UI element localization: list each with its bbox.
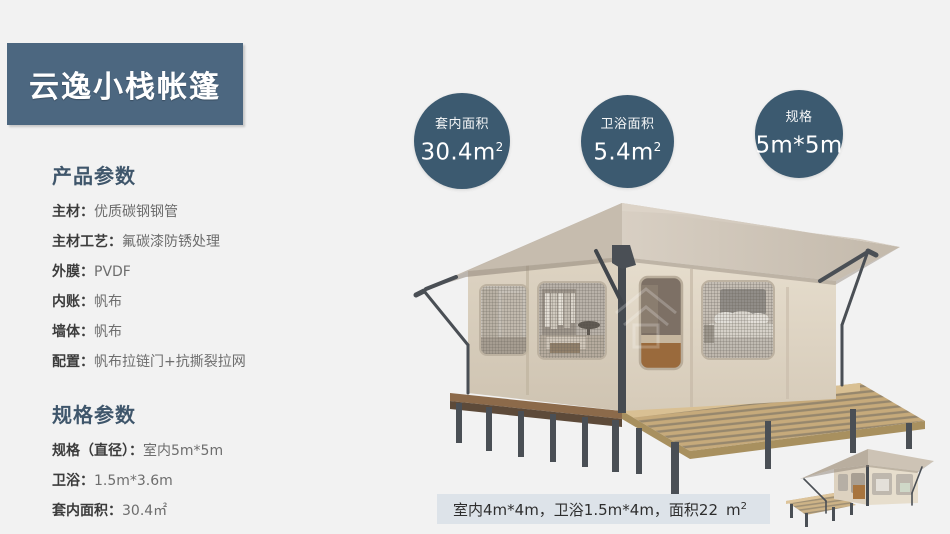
spec-label: 外膜： bbox=[52, 264, 94, 280]
spec-row: 规格（直径）：室内5m*5m bbox=[52, 436, 352, 466]
stat-badge-bathroom-area: 卫浴面积 5.4m2 bbox=[581, 95, 674, 188]
stat-badge-caption: 套内面积 bbox=[435, 116, 489, 133]
image-caption-bar: 室内4m*4m，卫浴1.5m*4m，面积22m2 bbox=[437, 494, 770, 524]
spec-row: 配置：帆布拉链门+抗撕裂拉网 bbox=[52, 347, 352, 377]
spec-value: 30.4㎡ bbox=[122, 503, 167, 519]
stat-value-number: 30.4 bbox=[420, 139, 472, 165]
spec-params-heading: 规格参数 bbox=[52, 403, 352, 427]
specifications-panel: 产品参数 主材：优质碳钢钢管 主材工艺：氟碳漆防锈处理 外膜：PVDF 内账：帆… bbox=[52, 164, 352, 526]
stat-badge-value: 30.4m2 bbox=[420, 134, 503, 167]
stat-badge-interior-area: 套内面积 30.4m2 bbox=[414, 93, 510, 189]
stat-badge-value: 5m*5m bbox=[755, 127, 842, 160]
spec-row: 外膜：PVDF bbox=[52, 257, 352, 287]
caption-sup: 2 bbox=[741, 501, 747, 512]
spec-value: 帆布 bbox=[94, 324, 122, 340]
stat-value-number: 5m*5m bbox=[755, 132, 842, 158]
spec-row: 墙体：帆布 bbox=[52, 317, 352, 347]
tent-thumbnail-image bbox=[772, 443, 944, 531]
spec-value: 氟碳漆防锈处理 bbox=[122, 234, 220, 250]
product-title-bar: 云逸小栈帐篷 bbox=[7, 43, 243, 125]
spec-label: 墙体： bbox=[52, 324, 94, 340]
spec-row: 主材工艺：氟碳漆防锈处理 bbox=[52, 227, 352, 257]
spec-value: 室内5m*5m bbox=[143, 443, 223, 459]
spec-label: 规格（直径）： bbox=[52, 443, 143, 459]
page-root: 云逸小栈帐篷 产品参数 主材：优质碳钢钢管 主材工艺：氟碳漆防锈处理 外膜：PV… bbox=[0, 0, 950, 534]
spec-label: 主材： bbox=[52, 204, 94, 220]
product-params-heading: 产品参数 bbox=[52, 164, 352, 188]
spec-value: 帆布拉链门+抗撕裂拉网 bbox=[94, 354, 246, 370]
stat-value-sup: 2 bbox=[496, 140, 504, 154]
stat-value-unit: m bbox=[631, 140, 654, 166]
spec-row: 主材：优质碳钢钢管 bbox=[52, 197, 352, 227]
spec-value: 帆布 bbox=[94, 294, 122, 310]
stat-badge-dimensions: 规格 5m*5m bbox=[755, 90, 843, 178]
caption-unit: m bbox=[718, 501, 741, 519]
spec-row: 卫浴：1.5m*3.6m bbox=[52, 466, 352, 496]
spec-label: 内账： bbox=[52, 294, 94, 310]
spec-value: PVDF bbox=[94, 264, 131, 280]
spec-label: 配置： bbox=[52, 354, 94, 370]
spec-row: 套内面积：30.4㎡ bbox=[52, 496, 352, 526]
stat-value-unit: m bbox=[473, 139, 496, 165]
spec-value: 优质碳钢钢管 bbox=[94, 204, 178, 220]
stat-badge-caption: 卫浴面积 bbox=[600, 116, 654, 133]
stat-badge-value: 5.4m2 bbox=[593, 134, 661, 167]
spec-label: 主材工艺： bbox=[52, 234, 122, 250]
page-title: 云逸小栈帐篷 bbox=[29, 62, 221, 106]
caption-main: 室内4m*4m，卫浴1.5m*4m，面积22 bbox=[445, 501, 718, 519]
stat-value-sup: 2 bbox=[654, 140, 662, 154]
stat-badge-caption: 规格 bbox=[785, 109, 812, 126]
caption-text: 室内4m*4m，卫浴1.5m*4m，面积22m2 bbox=[437, 499, 747, 520]
spec-value: 1.5m*3.6m bbox=[94, 473, 173, 489]
spec-label: 套内面积： bbox=[52, 503, 122, 519]
spec-row: 内账：帆布 bbox=[52, 287, 352, 317]
spec-label: 卫浴： bbox=[52, 473, 94, 489]
stat-value-number: 5.4 bbox=[593, 140, 630, 166]
